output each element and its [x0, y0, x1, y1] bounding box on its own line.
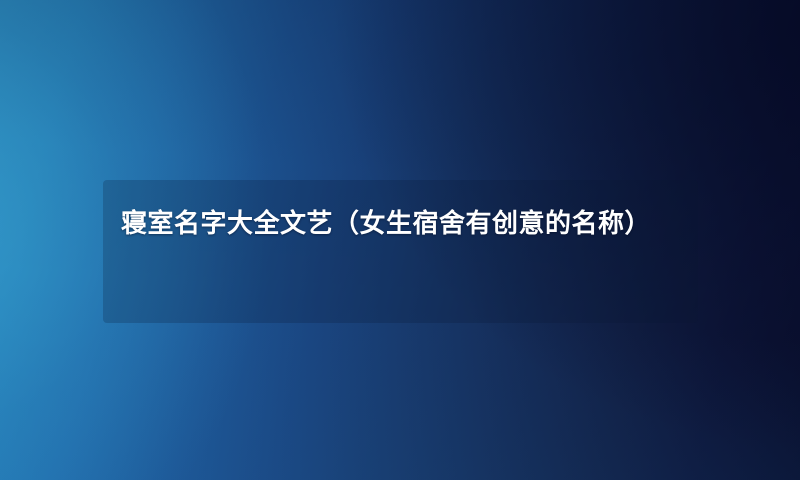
- article-cover-banner: 寝室名字大全文艺（女生宿舍有创意的名称）: [0, 0, 800, 480]
- banner-title: 寝室名字大全文艺（女生宿舍有创意的名称）: [121, 203, 678, 245]
- title-overlay-band: 寝室名字大全文艺（女生宿舍有创意的名称）: [103, 180, 698, 323]
